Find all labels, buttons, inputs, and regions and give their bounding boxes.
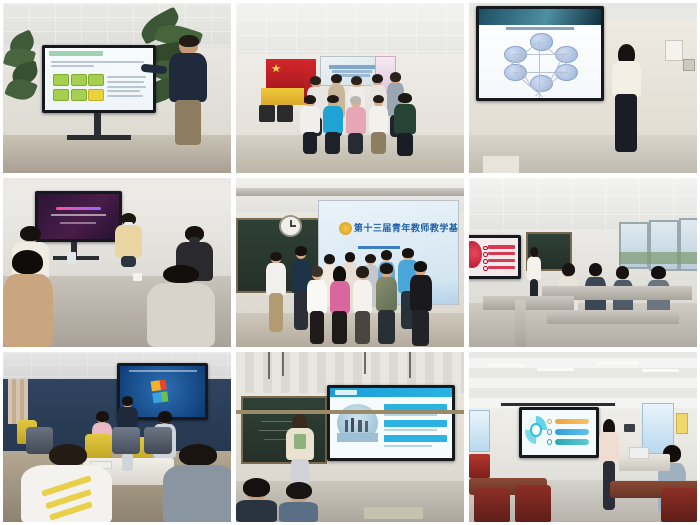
red-slide [469, 238, 518, 276]
table-leg [515, 300, 526, 348]
competition-emblem [339, 222, 352, 235]
wall-plaque [676, 413, 687, 433]
display-slide [469, 238, 518, 276]
person-left-standing [266, 254, 287, 332]
ceiling-light-1 [487, 364, 523, 367]
red-cabinet [469, 454, 490, 478]
ceiling [469, 352, 697, 408]
interactive-smartboard[interactable] [42, 45, 156, 113]
person-student-foreground-1 [236, 481, 277, 522]
potted-plant-left [5, 34, 41, 115]
wall-clock [279, 215, 302, 237]
photo-scene-competition-group-photo: 第十三届青年教师教学基本功大赛初赛 [236, 178, 464, 348]
blue-slide [330, 388, 452, 458]
step-riser [364, 507, 423, 519]
person-standing-presenter [115, 215, 142, 266]
wall-notice [665, 40, 683, 60]
collage-photo-1[interactable]: Male instructor pointing at an interacti… [3, 3, 231, 173]
collage-photo-8[interactable]: Young teacher lecturing at a podium next… [236, 352, 464, 522]
ceiling-light-4 [642, 369, 678, 372]
dark-title-slide [38, 194, 119, 239]
ceiling [236, 3, 464, 54]
step-platform [483, 156, 519, 173]
wall-switch-panel[interactable] [683, 59, 694, 71]
ceiling-hanger-2 [282, 352, 284, 376]
water-bottle [122, 454, 133, 471]
slide-content [45, 48, 153, 110]
red-chair-1 [474, 488, 510, 522]
desk-documents [629, 447, 650, 459]
display-slide [522, 410, 596, 455]
ceiling-beam [236, 188, 464, 196]
person-front-1 [300, 96, 321, 154]
person-foreground-back-view [21, 447, 112, 522]
red-chair-3 [661, 488, 697, 522]
collage-photo-6[interactable]: Teacher presenting beside a red-themed s… [469, 178, 697, 348]
smartboard-display [45, 48, 153, 110]
photo-scene-conference-room-discussion [3, 178, 231, 348]
person-presenter [526, 249, 542, 303]
person-front-2 [329, 269, 350, 344]
ceiling-hanger-4 [409, 352, 411, 377]
person-front-2 [323, 96, 344, 154]
person-presenter [165, 37, 211, 146]
display-slide [330, 388, 452, 458]
grey-chair-2 [112, 427, 139, 454]
wall-display[interactable] [469, 235, 521, 279]
collage-photo-2[interactable]: Group photo of ten participants seated a… [236, 3, 464, 173]
ceiling-light-2 [537, 368, 573, 371]
four-colour-window-logo [151, 379, 174, 403]
infographic-slide [522, 410, 596, 455]
person-seated-foreground-right [147, 269, 215, 347]
slide-header-bar [49, 51, 103, 55]
collage-photo-5[interactable]: 第十三届青年教师教学基本功大赛初赛 [236, 178, 464, 348]
person-front-3 [345, 98, 366, 154]
window-trees-view [619, 252, 697, 264]
photo-scene-teacher-blue-slide [236, 352, 464, 522]
collage-photo-4[interactable]: Masked presenter standing at the head of… [3, 178, 231, 348]
person-student-foreground-2 [279, 485, 318, 522]
long-table-2 [483, 296, 574, 310]
ceiling-light-3 [597, 361, 638, 364]
blackboard [241, 396, 328, 464]
shirt-graphic [294, 434, 306, 449]
wall-curtain [8, 379, 29, 423]
slide-bar-blue [555, 429, 589, 435]
photo-scene-meeting-room-pointer [3, 3, 231, 173]
person-front-3 [352, 269, 373, 344]
slide-bar-orange [555, 419, 589, 425]
person-teacher [286, 417, 313, 485]
screen-title-line-1: 第十三届青年教师教学基本功大赛初赛 [354, 221, 460, 234]
slide-circle-graphic [469, 241, 482, 268]
interactive-display[interactable] [327, 385, 455, 461]
display-slide [479, 9, 601, 98]
ceiling-hanger-3 [364, 352, 366, 374]
red-chair-2 [515, 485, 551, 522]
photo-collage: Male instructor pointing at an interacti… [0, 0, 700, 525]
water-bottle [67, 252, 76, 264]
person-front-1 [307, 269, 328, 344]
photo-scene-network-diagram-presentation [469, 3, 697, 173]
person-front-4 [368, 96, 389, 154]
photo-scene-seminar-infographic [469, 352, 697, 522]
person-front-4 [375, 266, 398, 344]
person-front-5 [409, 264, 432, 345]
person-foreground-right [163, 447, 231, 522]
long-table-3 [547, 310, 679, 324]
display-slide [38, 194, 119, 239]
photo-scene-group-photo-banner [236, 3, 464, 173]
slide-center-badge [530, 423, 542, 436]
smartboard-stand-base [67, 135, 131, 140]
collage-photo-9[interactable]: Teacher standing beside a colourful info… [469, 352, 697, 522]
person-front-5 [393, 95, 416, 156]
interactive-display[interactable] [519, 407, 599, 458]
curtain-rail [501, 403, 615, 406]
paper-cup [133, 273, 142, 281]
wall-control-panel[interactable] [624, 424, 635, 432]
person-presenter [610, 47, 642, 152]
collage-photo-7[interactable]: Back-of-room view of a training session … [3, 352, 231, 522]
person-seated-left-front [3, 256, 53, 348]
ceiling-hanger-1 [268, 352, 270, 379]
photo-scene-training-room-back-view [3, 352, 231, 522]
slide-bar-teal [555, 439, 589, 445]
photo-scene-classroom-red-slide [469, 178, 697, 348]
wall-poster-left [469, 410, 490, 452]
wall-mounted-display[interactable] [476, 6, 604, 101]
collage-photo-3[interactable]: Female teacher presenting a network node… [469, 3, 697, 173]
